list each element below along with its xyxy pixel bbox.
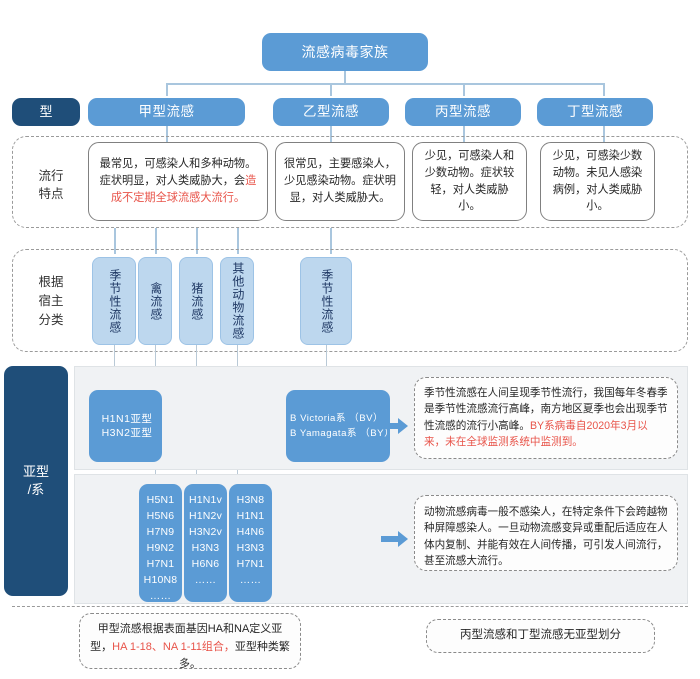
host-box-swine[interactable]: 猪流感 [179,257,213,345]
note-seasonal-influenza: 季节性流感在人间呈现季节性流行，我国每年冬春季是季节性流感流行高峰，南方地区夏季… [414,377,678,459]
note-animal-influenza: 动物流感病毒一般不感染人，在特定条件下会跨越物种屏障感染人。一旦动物流感变异或重… [414,495,678,571]
feature-card-c-black: 少见，可感染人和少数动物。症状较轻，对人类威胁小。 [425,150,515,212]
arrow-right-icon-human [381,418,409,434]
host-box-seasonal-a-label: 季节性流感 [107,265,121,337]
avian-item-4: H7N1 [139,557,182,573]
sidebar-label-features-line1: 流行 [22,168,80,186]
connector-to-type-a [166,83,168,96]
type-box-c-label: 丙型流感 [435,103,491,121]
swine-item-2: H3N2v [184,525,227,541]
swine-item-0: H1N1v [184,493,227,509]
sidebar-label-host-line1: 根据 [22,273,80,292]
connector-to-type-b [330,83,332,96]
sidebar-label-type: 型 [12,98,80,126]
sidebar-label-type-text: 型 [39,104,52,121]
avian-item-3: H9N2 [139,541,182,557]
avian-item-0: H5N1 [139,493,182,509]
root-title-label: 流感病毒家族 [302,43,389,62]
subtype-section-bottom-divider [12,606,688,607]
connector-root-down [344,71,346,83]
host-box-swine-label: 猪流感 [189,273,203,329]
sidebar-label-features-line2: 特点 [22,186,80,204]
type-box-b-label: 乙型流感 [303,103,359,121]
host-box-avian[interactable]: 禽流感 [138,257,172,345]
subtype-box-b-line1: B Victoria系 （BV） [290,411,390,426]
avian-item-1: H5N6 [139,509,182,525]
subtype-box-a-line1: H1N1亚型 [102,412,153,426]
subtype-box-influenza-b[interactable]: B Victoria系 （BV） B Yamagata系 （BY） [286,390,390,462]
type-box-d[interactable]: 丁型流感 [537,98,653,126]
feature-card-a: 最常见，可感染人和多种动物。症状明显，对人类威胁大，会造成不定期全球流感大流行。 [88,142,268,221]
other-item-1: H1N1 [229,509,272,525]
feature-card-a-black: 最常见，可感染人和多种动物。症状明显，对人类威胁大，会 [100,158,257,187]
subtype-box-influenza-a[interactable]: H1N1亚型 H3N2亚型 [89,390,162,462]
feature-card-d-black: 少见，可感染少数动物。未见人感染病例，对人类威胁小。 [553,150,643,212]
other-item-2: H4N6 [229,525,272,541]
other-item-4: H7N1 [229,557,272,573]
subtype-list-other-animal[interactable]: H3N8 H1N1 H4N6 H3N3 H7N1 …… [229,484,272,602]
host-box-avian-label: 禽流感 [148,273,162,329]
feature-card-b-black: 很常见，主要感染人，少见感染动物。症状明显，对人类威胁大。 [284,158,396,204]
note-ha-na-line1: 甲型流感根据表面基因HA和NA [98,623,250,635]
swine-item-1: H1N2v [184,509,227,525]
other-item-3: H3N3 [229,541,272,557]
host-box-seasonal-a[interactable]: 季节性流感 [92,257,136,345]
host-box-seasonal-b[interactable]: 季节性流感 [300,257,352,345]
type-box-a-label: 甲型流感 [139,103,195,121]
note-no-subtype: 丙型流感和丁型流感无亚型划分 [426,619,655,653]
sidebar-label-host-line2: 宿主 [22,292,80,311]
connector-type-bus [166,83,604,85]
subtype-list-avian[interactable]: H5N1 H5N6 H7N9 H9N2 H7N1 H10N8 …… [139,484,182,602]
subtype-list-swine[interactable]: H1N1v H1N2v H3N2v H3N3 H6N6 …… [184,484,227,602]
sidebar-label-host: 根据 宿主 分类 [22,273,80,329]
host-box-other-animal[interactable]: 其他动物流感 [220,257,254,345]
sidebar-label-subtype-line2: /系 [23,481,49,499]
feature-card-b: 很常见，主要感染人，少见感染动物。症状明显，对人类威胁大。 [275,142,405,221]
other-item-0: H3N8 [229,493,272,509]
arrow-right-icon-animal [381,531,409,547]
sidebar-label-subtype: 亚型 /系 [4,366,68,596]
swine-item-3: H3N3 [184,541,227,557]
sidebar-label-features: 流行 特点 [22,168,80,203]
swine-item-4: H6N6 [184,557,227,573]
sidebar-label-subtype-line1: 亚型 [23,463,49,481]
subtype-box-b-line2: B Yamagata系 （BY） [290,426,390,441]
subtype-box-a-line2: H3N2亚型 [102,426,153,440]
avian-item-6: …… [139,589,182,605]
swine-item-5: …… [184,573,227,589]
note-ha-na: 甲型流感根据表面基因HA和NA定义亚型，HA 1-18、NA 1-11组合，亚型… [79,613,301,669]
connector-to-type-c [463,83,465,96]
avian-item-5: H10N8 [139,573,182,589]
note-ha-na-line2-red: HA 1-18、NA 1-11组 [112,641,213,653]
note-animal-text: 动物流感病毒一般不感染人，在特定条件下会跨越物种屏障感染人。一旦动物流感变异或重… [424,506,668,567]
root-title-box: 流感病毒家族 [262,33,428,71]
avian-item-2: H7N9 [139,525,182,541]
host-box-other-animal-label: 其他动物流感 [230,260,244,342]
diagram-canvas: 流感病毒家族 型 甲型流感 乙型流感 丙型流感 丁型流感 流行 特点 最常见，可… [0,0,700,679]
sidebar-label-host-line3: 分类 [22,311,80,330]
type-box-b[interactable]: 乙型流感 [273,98,389,126]
feature-card-d: 少见，可感染少数动物。未见人感染病例，对人类威胁小。 [540,142,655,221]
connector-to-type-d [603,83,605,96]
note-ha-na-line3-red: 合， [213,641,235,653]
note-no-subtype-text: 丙型流感和丁型流感无亚型划分 [460,627,621,645]
type-box-c[interactable]: 丙型流感 [405,98,521,126]
type-box-d-label: 丁型流感 [567,103,623,121]
other-item-5: …… [229,573,272,589]
type-box-a[interactable]: 甲型流感 [88,98,245,126]
host-box-seasonal-b-label: 季节性流感 [319,265,333,337]
feature-card-c: 少见，可感染人和少数动物。症状较轻，对人类威胁小。 [412,142,527,221]
